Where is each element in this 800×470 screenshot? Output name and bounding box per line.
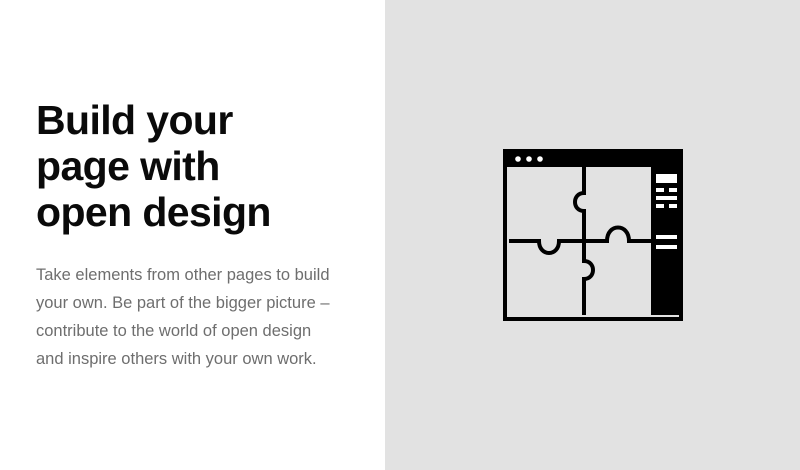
sidebar-block bbox=[656, 235, 677, 239]
text-panel: Build your page with open design Take el… bbox=[0, 0, 385, 470]
sidebar-block bbox=[656, 174, 677, 183]
illustration-panel bbox=[385, 0, 800, 470]
open-design-promo-section: Build your page with open design Take el… bbox=[0, 0, 800, 470]
sidebar-block bbox=[669, 188, 677, 192]
sidebar-block bbox=[656, 196, 677, 200]
window-dot-icon bbox=[515, 156, 521, 162]
window-dot-icon bbox=[537, 156, 543, 162]
section-description: Take elements from other pages to build … bbox=[36, 261, 336, 373]
sidebar-block bbox=[656, 245, 677, 249]
sidebar-block bbox=[656, 204, 664, 208]
sidebar-block bbox=[669, 204, 677, 208]
page-title: Build your page with open design bbox=[36, 97, 306, 235]
window-dot-icon bbox=[526, 156, 532, 162]
sidebar-block bbox=[656, 188, 664, 192]
browser-puzzle-icon bbox=[503, 149, 683, 321]
